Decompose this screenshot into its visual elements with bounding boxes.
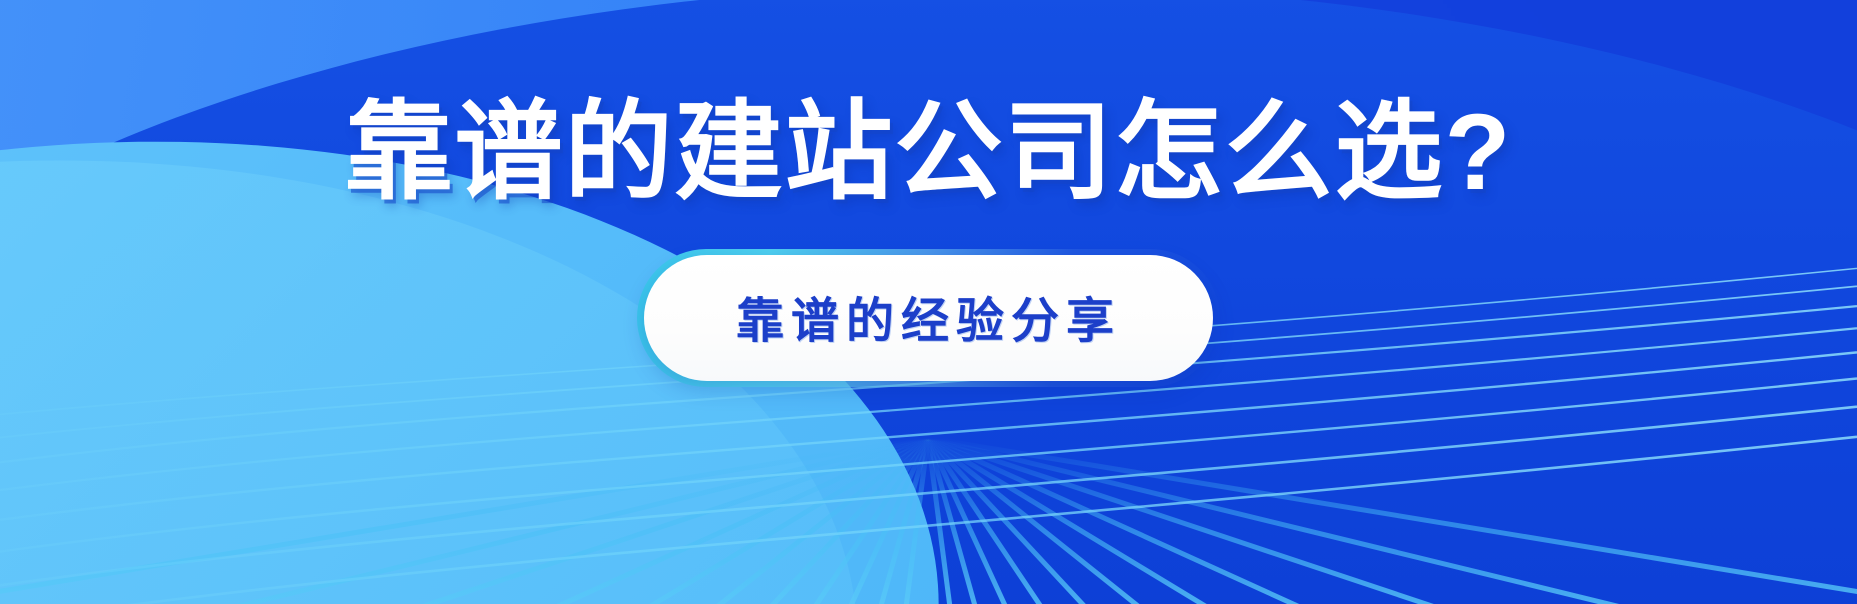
promo-banner: 靠谱的建站公司怎么选? 靠谱的经验分享: [0, 0, 1857, 604]
subtitle-pill-label: 靠谱的经验分享: [736, 281, 1121, 351]
subtitle-pill-button[interactable]: 靠谱的经验分享: [644, 255, 1213, 381]
subtitle-pill-wrapper: 靠谱的经验分享: [644, 255, 1213, 381]
banner-content: 靠谱的建站公司怎么选? 靠谱的经验分享: [0, 0, 1857, 604]
page-title: 靠谱的建站公司怎么选?: [345, 92, 1513, 213]
